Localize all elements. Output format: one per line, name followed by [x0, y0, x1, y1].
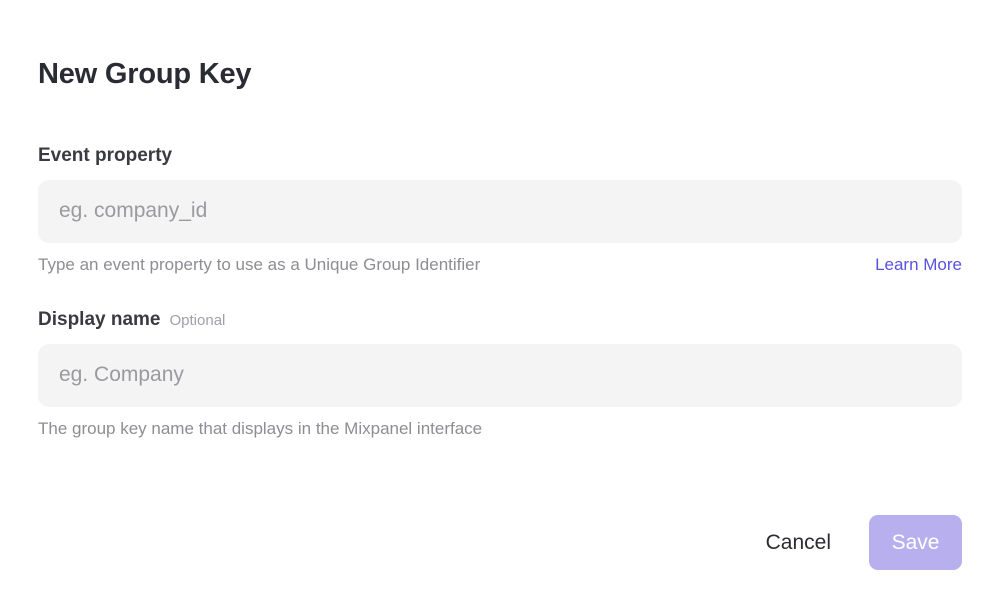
display-name-input[interactable]: [38, 344, 962, 407]
group-key-form: Event property Type an event property to…: [38, 145, 962, 440]
event-property-input[interactable]: [38, 180, 962, 243]
field-optional-tag: Optional: [170, 312, 226, 330]
field-footer-event-property: Type an event property to use as a Uniqu…: [38, 254, 962, 276]
field-spacer: [38, 276, 962, 309]
field-label-text: Display name: [38, 309, 161, 332]
learn-more-link[interactable]: Learn More: [875, 255, 962, 275]
field-display-name: Display name Optional The group key name…: [38, 309, 962, 440]
field-footer-display-name: The group key name that displays in the …: [38, 418, 962, 440]
display-name-help-text: The group key name that displays in the …: [38, 418, 482, 440]
dialog-footer-actions: Cancel Save: [766, 515, 962, 570]
page-title: New Group Key: [38, 57, 251, 92]
event-property-help-text: Type an event property to use as a Uniqu…: [38, 254, 480, 276]
save-button[interactable]: Save: [869, 515, 962, 570]
field-label-display-name: Display name Optional: [38, 309, 962, 332]
field-event-property: Event property Type an event property to…: [38, 145, 962, 276]
cancel-button[interactable]: Cancel: [766, 532, 831, 553]
new-group-key-dialog: New Group Key Event property Type an eve…: [0, 0, 1000, 608]
field-label-text: Event property: [38, 145, 172, 168]
field-label-event-property: Event property: [38, 145, 962, 168]
